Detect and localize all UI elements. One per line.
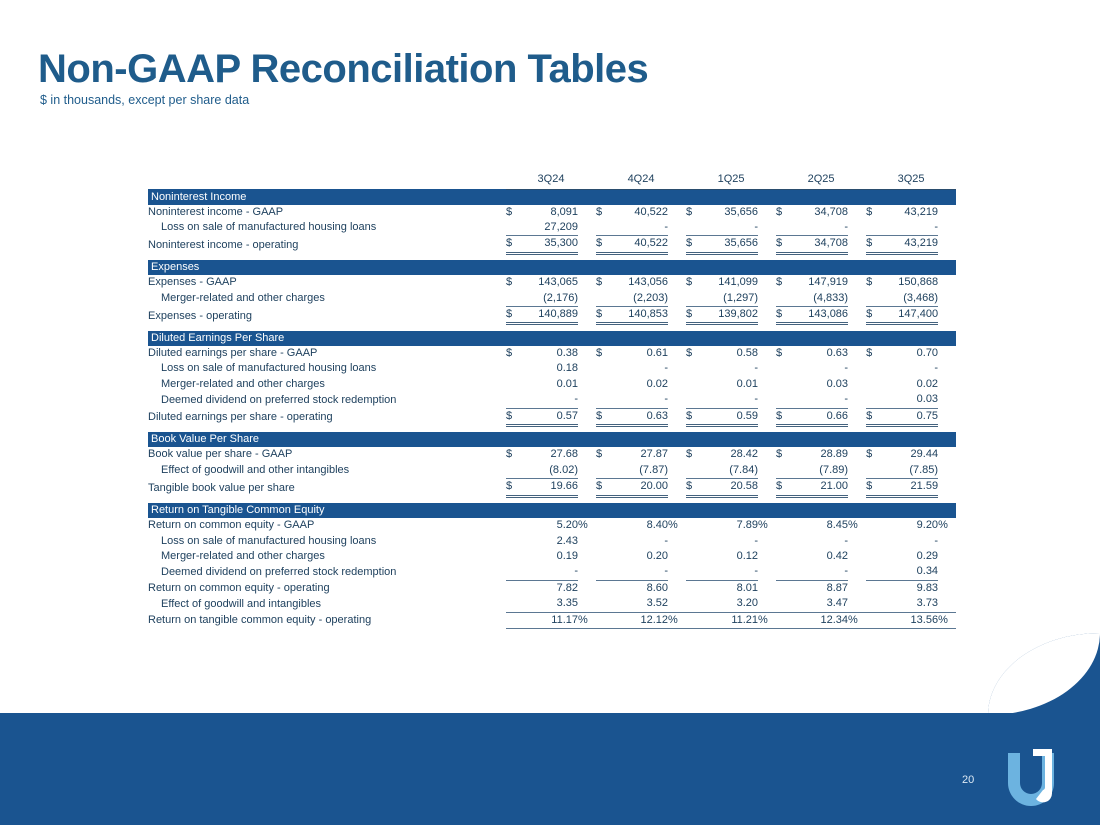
percent-symbol xyxy=(938,377,956,392)
cell-value-2q25: 0.42 xyxy=(790,549,848,564)
percent-symbol xyxy=(848,408,866,425)
currency-symbol xyxy=(686,518,700,533)
cell-value-3q24: - xyxy=(520,564,578,580)
footer-corner-curve xyxy=(988,633,1100,715)
cell-value-3q24: (2,176) xyxy=(520,291,578,307)
table-row: Expenses - GAAP$143,065$143,056$141,099$… xyxy=(148,275,956,290)
cell-value-3q25: 9.83 xyxy=(880,580,938,596)
currency-symbol xyxy=(866,580,880,596)
percent-symbol xyxy=(938,549,956,564)
currency-symbol xyxy=(866,612,880,628)
percent-symbol xyxy=(938,275,956,290)
percent-symbol xyxy=(938,596,956,612)
currency-symbol xyxy=(596,564,610,580)
currency-symbol: $ xyxy=(506,408,520,425)
currency-symbol xyxy=(596,518,610,533)
row-label: Diluted earnings per share - GAAP xyxy=(148,346,506,361)
percent-symbol xyxy=(668,346,686,361)
currency-symbol: $ xyxy=(686,408,700,425)
currency-symbol: $ xyxy=(686,346,700,361)
reconciliation-table: 3Q244Q241Q252Q253Q25Noninterest IncomeNo… xyxy=(148,172,956,629)
cell-value-2q25: (7.89) xyxy=(790,463,848,479)
cell-value-3q25: 43,219 xyxy=(880,236,938,253)
currency-symbol xyxy=(686,596,700,612)
currency-symbol xyxy=(776,518,790,533)
percent-symbol xyxy=(848,463,866,479)
cell-value-1q25: - xyxy=(700,534,758,549)
row-label: Merger-related and other charges xyxy=(148,291,506,307)
percent-symbol: % xyxy=(938,612,956,628)
percent-symbol: % xyxy=(938,518,956,533)
percent-symbol xyxy=(938,479,956,496)
currency-symbol xyxy=(686,463,700,479)
currency-symbol: $ xyxy=(776,408,790,425)
currency-symbol xyxy=(776,612,790,628)
cell-value-3q25: - xyxy=(880,534,938,549)
cell-value-4q24: - xyxy=(610,534,668,549)
percent-symbol xyxy=(668,580,686,596)
cell-value-2q25: 0.66 xyxy=(790,408,848,425)
percent-symbol xyxy=(848,205,866,220)
u-logo-icon xyxy=(1000,747,1062,809)
cell-value-2q25: 12.34 xyxy=(790,612,848,628)
section-header-noninterest-income: Noninterest Income xyxy=(148,189,956,205)
cell-value-1q25: - xyxy=(700,220,758,236)
percent-symbol xyxy=(848,447,866,462)
table-row: Effect of goodwill and intangibles3.353.… xyxy=(148,596,956,612)
currency-symbol xyxy=(506,392,520,408)
percent-symbol xyxy=(758,534,776,549)
percent-symbol xyxy=(668,291,686,307)
currency-symbol xyxy=(596,549,610,564)
currency-symbol: $ xyxy=(866,205,880,220)
cell-value-3q25: 147,400 xyxy=(880,307,938,324)
percent-symbol xyxy=(758,291,776,307)
currency-symbol: $ xyxy=(866,479,880,496)
currency-symbol xyxy=(776,580,790,596)
currency-symbol: $ xyxy=(596,236,610,253)
percent-symbol: % xyxy=(668,518,686,533)
cell-value-1q25: 35,656 xyxy=(700,205,758,220)
currency-symbol: $ xyxy=(506,205,520,220)
cell-value-4q24: (2,203) xyxy=(610,291,668,307)
percent-symbol xyxy=(758,307,776,324)
percent-symbol xyxy=(668,549,686,564)
currency-symbol: $ xyxy=(686,479,700,496)
section-header-label: Expenses xyxy=(148,260,956,275)
cell-value-4q24: - xyxy=(610,361,668,376)
percent-symbol xyxy=(848,236,866,253)
cell-value-4q24: 0.63 xyxy=(610,408,668,425)
currency-symbol xyxy=(686,534,700,549)
table-row: Loss on sale of manufactured housing loa… xyxy=(148,534,956,549)
table-row: Noninterest income - GAAP$8,091$40,522$3… xyxy=(148,205,956,220)
currency-symbol: $ xyxy=(866,307,880,324)
currency-symbol xyxy=(866,291,880,307)
cell-value-1q25: 28.42 xyxy=(700,447,758,462)
table-header-row: 3Q244Q241Q252Q253Q25 xyxy=(148,172,956,189)
percent-symbol xyxy=(578,596,596,612)
cell-value-1q25: 8.01 xyxy=(700,580,758,596)
percent-symbol xyxy=(578,205,596,220)
currency-symbol xyxy=(776,534,790,549)
table-row: Tangible book value per share$19.66$20.0… xyxy=(148,479,956,496)
percent-symbol xyxy=(758,346,776,361)
cell-value-3q24: 19.66 xyxy=(520,479,578,496)
percent-symbol xyxy=(848,361,866,376)
cell-value-4q24: (7.87) xyxy=(610,463,668,479)
row-label: Return on tangible common equity - opera… xyxy=(148,612,506,628)
percent-symbol xyxy=(578,392,596,408)
cell-value-1q25: (1,297) xyxy=(700,291,758,307)
table-row: Return on common equity - operating7.828… xyxy=(148,580,956,596)
cell-value-3q25: (7.85) xyxy=(880,463,938,479)
cell-value-3q24: 27.68 xyxy=(520,447,578,462)
table-row: Deemed dividend on preferred stock redem… xyxy=(148,564,956,580)
currency-symbol xyxy=(686,549,700,564)
percent-symbol xyxy=(758,275,776,290)
percent-symbol xyxy=(668,408,686,425)
percent-symbol xyxy=(848,220,866,236)
percent-symbol xyxy=(938,307,956,324)
currency-symbol xyxy=(596,580,610,596)
currency-symbol xyxy=(686,564,700,580)
percent-symbol xyxy=(668,447,686,462)
currency-symbol xyxy=(866,549,880,564)
percent-symbol: % xyxy=(848,518,866,533)
percent-symbol xyxy=(758,596,776,612)
percent-symbol xyxy=(668,596,686,612)
cell-value-3q24: 0.38 xyxy=(520,346,578,361)
column-header-1q25: 1Q25 xyxy=(686,172,776,189)
percent-symbol xyxy=(848,346,866,361)
spacer-cell xyxy=(148,324,956,331)
currency-symbol xyxy=(776,377,790,392)
percent-symbol xyxy=(578,549,596,564)
table-row: Loss on sale of manufactured housing loa… xyxy=(148,220,956,236)
currency-symbol xyxy=(866,596,880,612)
section-header-book-value-per-share: Book Value Per Share xyxy=(148,432,956,447)
percent-symbol xyxy=(578,463,596,479)
currency-symbol xyxy=(866,377,880,392)
percent-symbol xyxy=(938,291,956,307)
table-row: Loss on sale of manufactured housing loa… xyxy=(148,361,956,376)
currency-symbol xyxy=(596,534,610,549)
cell-value-3q25: 43,219 xyxy=(880,205,938,220)
currency-symbol: $ xyxy=(776,275,790,290)
currency-symbol xyxy=(686,291,700,307)
table-row: Noninterest income - operating$35,300$40… xyxy=(148,236,956,253)
row-label: Expenses - operating xyxy=(148,307,506,324)
percent-symbol xyxy=(938,236,956,253)
currency-symbol xyxy=(596,220,610,236)
section-header-label: Return on Tangible Common Equity xyxy=(148,503,956,518)
currency-symbol: $ xyxy=(866,236,880,253)
cell-value-4q24: 40,522 xyxy=(610,236,668,253)
percent-symbol xyxy=(668,220,686,236)
currency-symbol: $ xyxy=(686,307,700,324)
currency-symbol xyxy=(866,392,880,408)
percent-symbol xyxy=(938,408,956,425)
row-label: Return on common equity - GAAP xyxy=(148,518,506,533)
currency-symbol xyxy=(776,361,790,376)
cell-value-2q25: (4,833) xyxy=(790,291,848,307)
percent-symbol xyxy=(938,205,956,220)
row-label: Tangible book value per share xyxy=(148,479,506,496)
percent-symbol xyxy=(578,236,596,253)
cell-value-1q25: 139,802 xyxy=(700,307,758,324)
currency-symbol xyxy=(506,463,520,479)
currency-symbol: $ xyxy=(506,307,520,324)
currency-symbol xyxy=(686,612,700,628)
cell-value-4q24: - xyxy=(610,564,668,580)
percent-symbol xyxy=(848,580,866,596)
percent-symbol xyxy=(938,564,956,580)
percent-symbol: % xyxy=(758,612,776,628)
cell-value-3q24: 2.43 xyxy=(520,534,578,549)
currency-symbol xyxy=(776,291,790,307)
cell-value-2q25: 21.00 xyxy=(790,479,848,496)
percent-symbol xyxy=(668,361,686,376)
cell-value-3q24: - xyxy=(520,392,578,408)
cell-value-4q24: 140,853 xyxy=(610,307,668,324)
cell-value-3q24: 35,300 xyxy=(520,236,578,253)
row-label: Deemed dividend on preferred stock redem… xyxy=(148,564,506,580)
cell-value-4q24: 8.60 xyxy=(610,580,668,596)
percent-symbol xyxy=(848,377,866,392)
currency-symbol xyxy=(686,377,700,392)
currency-symbol xyxy=(506,361,520,376)
reconciliation-table-container: 3Q244Q241Q252Q253Q25Noninterest IncomeNo… xyxy=(148,172,956,629)
percent-symbol xyxy=(758,392,776,408)
currency-symbol: $ xyxy=(776,447,790,462)
currency-symbol xyxy=(506,612,520,628)
cell-value-1q25: 141,099 xyxy=(700,275,758,290)
percent-symbol xyxy=(578,220,596,236)
table-row: Book value per share - GAAP$27.68$27.87$… xyxy=(148,447,956,462)
percent-symbol xyxy=(848,534,866,549)
currency-symbol xyxy=(776,549,790,564)
percent-symbol xyxy=(578,580,596,596)
row-label: Merger-related and other charges xyxy=(148,377,506,392)
spacer-cell xyxy=(148,425,956,432)
percent-symbol xyxy=(668,564,686,580)
cell-value-2q25: 8.87 xyxy=(790,580,848,596)
currency-symbol: $ xyxy=(596,307,610,324)
cell-value-3q25: 0.34 xyxy=(880,564,938,580)
cell-value-4q24: - xyxy=(610,220,668,236)
cell-value-2q25: - xyxy=(790,392,848,408)
currency-symbol xyxy=(866,518,880,533)
currency-symbol: $ xyxy=(506,346,520,361)
currency-symbol: $ xyxy=(506,275,520,290)
cell-value-1q25: 0.01 xyxy=(700,377,758,392)
section-header-label: Noninterest Income xyxy=(148,189,956,205)
cell-value-1q25: - xyxy=(700,392,758,408)
percent-symbol xyxy=(848,479,866,496)
percent-symbol: % xyxy=(578,518,596,533)
cell-value-2q25: 34,708 xyxy=(790,205,848,220)
cell-value-1q25: 0.59 xyxy=(700,408,758,425)
currency-symbol xyxy=(596,377,610,392)
cell-value-1q25: 3.20 xyxy=(700,596,758,612)
cell-value-3q24: 5.20 xyxy=(520,518,578,533)
percent-symbol xyxy=(668,307,686,324)
currency-symbol xyxy=(866,564,880,580)
row-label: Loss on sale of manufactured housing loa… xyxy=(148,361,506,376)
row-label: Diluted earnings per share - operating xyxy=(148,408,506,425)
cell-value-4q24: 3.52 xyxy=(610,596,668,612)
cell-value-3q24: 7.82 xyxy=(520,580,578,596)
table-row: Merger-related and other charges0.010.02… xyxy=(148,377,956,392)
percent-symbol xyxy=(938,534,956,549)
cell-value-3q25: 13.56 xyxy=(880,612,938,628)
cell-value-3q25: 150,868 xyxy=(880,275,938,290)
cell-value-3q25: 21.59 xyxy=(880,479,938,496)
percent-symbol xyxy=(848,596,866,612)
currency-symbol: $ xyxy=(776,236,790,253)
percent-symbol xyxy=(668,479,686,496)
page-number: 20 xyxy=(962,774,974,786)
currency-symbol: $ xyxy=(776,205,790,220)
currency-symbol: $ xyxy=(596,275,610,290)
percent-symbol xyxy=(758,220,776,236)
percent-symbol xyxy=(578,408,596,425)
section-header-return-on-tangible-common-equity: Return on Tangible Common Equity xyxy=(148,503,956,518)
percent-symbol: % xyxy=(578,612,596,628)
cell-value-4q24: 40,522 xyxy=(610,205,668,220)
percent-symbol xyxy=(578,479,596,496)
cell-value-1q25: 0.58 xyxy=(700,346,758,361)
percent-symbol xyxy=(848,307,866,324)
percent-symbol xyxy=(578,361,596,376)
currency-symbol xyxy=(866,361,880,376)
cell-value-1q25: - xyxy=(700,361,758,376)
percent-symbol xyxy=(578,307,596,324)
footer-band xyxy=(0,713,1100,825)
section-header-diluted-earnings-per-share: Diluted Earnings Per Share xyxy=(148,331,956,346)
currency-symbol: $ xyxy=(506,447,520,462)
cell-value-1q25: - xyxy=(700,564,758,580)
percent-symbol xyxy=(758,564,776,580)
row-label: Deemed dividend on preferred stock redem… xyxy=(148,392,506,408)
table-row: Return on common equity - GAAP5.20%8.40%… xyxy=(148,518,956,533)
percent-symbol xyxy=(758,408,776,425)
section-header-label: Diluted Earnings Per Share xyxy=(148,331,956,346)
percent-symbol xyxy=(758,479,776,496)
percent-symbol: % xyxy=(848,612,866,628)
currency-symbol: $ xyxy=(686,275,700,290)
cell-value-3q25: 0.70 xyxy=(880,346,938,361)
currency-symbol: $ xyxy=(866,346,880,361)
currency-symbol: $ xyxy=(776,307,790,324)
currency-symbol: $ xyxy=(506,236,520,253)
currency-symbol xyxy=(506,291,520,307)
cell-value-2q25: - xyxy=(790,361,848,376)
percent-symbol xyxy=(668,392,686,408)
cell-value-3q24: 11.17 xyxy=(520,612,578,628)
currency-symbol: $ xyxy=(686,205,700,220)
currency-symbol xyxy=(866,463,880,479)
currency-symbol: $ xyxy=(776,479,790,496)
currency-symbol: $ xyxy=(866,408,880,425)
table-body: 3Q244Q241Q252Q253Q25Noninterest IncomeNo… xyxy=(148,172,956,629)
cell-value-3q25: 3.73 xyxy=(880,596,938,612)
currency-symbol xyxy=(776,564,790,580)
cell-value-3q25: - xyxy=(880,220,938,236)
currency-symbol: $ xyxy=(866,447,880,462)
currency-symbol: $ xyxy=(596,205,610,220)
percent-symbol: % xyxy=(758,518,776,533)
currency-symbol xyxy=(686,361,700,376)
percent-symbol xyxy=(578,275,596,290)
cell-value-2q25: 0.03 xyxy=(790,377,848,392)
currency-symbol xyxy=(776,596,790,612)
currency-symbol xyxy=(506,564,520,580)
percent-symbol xyxy=(758,205,776,220)
cell-value-4q24: 0.61 xyxy=(610,346,668,361)
currency-symbol xyxy=(686,392,700,408)
currency-symbol: $ xyxy=(776,346,790,361)
cell-value-2q25: 8.45 xyxy=(790,518,848,533)
currency-symbol: $ xyxy=(596,408,610,425)
percent-symbol xyxy=(848,291,866,307)
cell-value-3q24: 8,091 xyxy=(520,205,578,220)
section-header-expenses: Expenses xyxy=(148,260,956,275)
percent-symbol xyxy=(758,377,776,392)
currency-symbol xyxy=(776,220,790,236)
cell-value-2q25: 28.89 xyxy=(790,447,848,462)
cell-value-2q25: 3.47 xyxy=(790,596,848,612)
cell-value-4q24: 8.40 xyxy=(610,518,668,533)
percent-symbol xyxy=(938,346,956,361)
cell-value-2q25: 34,708 xyxy=(790,236,848,253)
currency-symbol xyxy=(866,220,880,236)
percent-symbol xyxy=(938,580,956,596)
cell-value-1q25: 35,656 xyxy=(700,236,758,253)
cell-value-4q24: 143,056 xyxy=(610,275,668,290)
row-label: Effect of goodwill and intangibles xyxy=(148,596,506,612)
currency-symbol xyxy=(506,518,520,533)
row-label: Loss on sale of manufactured housing loa… xyxy=(148,534,506,549)
cell-value-3q25: - xyxy=(880,361,938,376)
percent-symbol xyxy=(668,275,686,290)
column-header-3q25: 3Q25 xyxy=(866,172,956,189)
section-gap xyxy=(148,253,956,260)
percent-symbol xyxy=(668,534,686,549)
section-header-label: Book Value Per Share xyxy=(148,432,956,447)
row-label: Loss on sale of manufactured housing loa… xyxy=(148,220,506,236)
percent-symbol xyxy=(938,392,956,408)
percent-symbol: % xyxy=(668,612,686,628)
table-row: Diluted earnings per share - GAAP$0.38$0… xyxy=(148,346,956,361)
currency-symbol xyxy=(686,220,700,236)
currency-symbol: $ xyxy=(506,479,520,496)
cell-value-3q24: 0.57 xyxy=(520,408,578,425)
row-label: Effect of goodwill and other intangibles xyxy=(148,463,506,479)
cell-value-3q24: 143,065 xyxy=(520,275,578,290)
currency-symbol: $ xyxy=(596,346,610,361)
table-row: Deemed dividend on preferred stock redem… xyxy=(148,392,956,408)
currency-symbol xyxy=(506,549,520,564)
table-row: Effect of goodwill and other intangibles… xyxy=(148,463,956,479)
table-row: Diluted earnings per share - operating$0… xyxy=(148,408,956,425)
column-header-2q25: 2Q25 xyxy=(776,172,866,189)
cell-value-3q25: 0.29 xyxy=(880,549,938,564)
cell-value-3q25: 0.02 xyxy=(880,377,938,392)
percent-symbol xyxy=(758,236,776,253)
cell-value-2q25: - xyxy=(790,534,848,549)
